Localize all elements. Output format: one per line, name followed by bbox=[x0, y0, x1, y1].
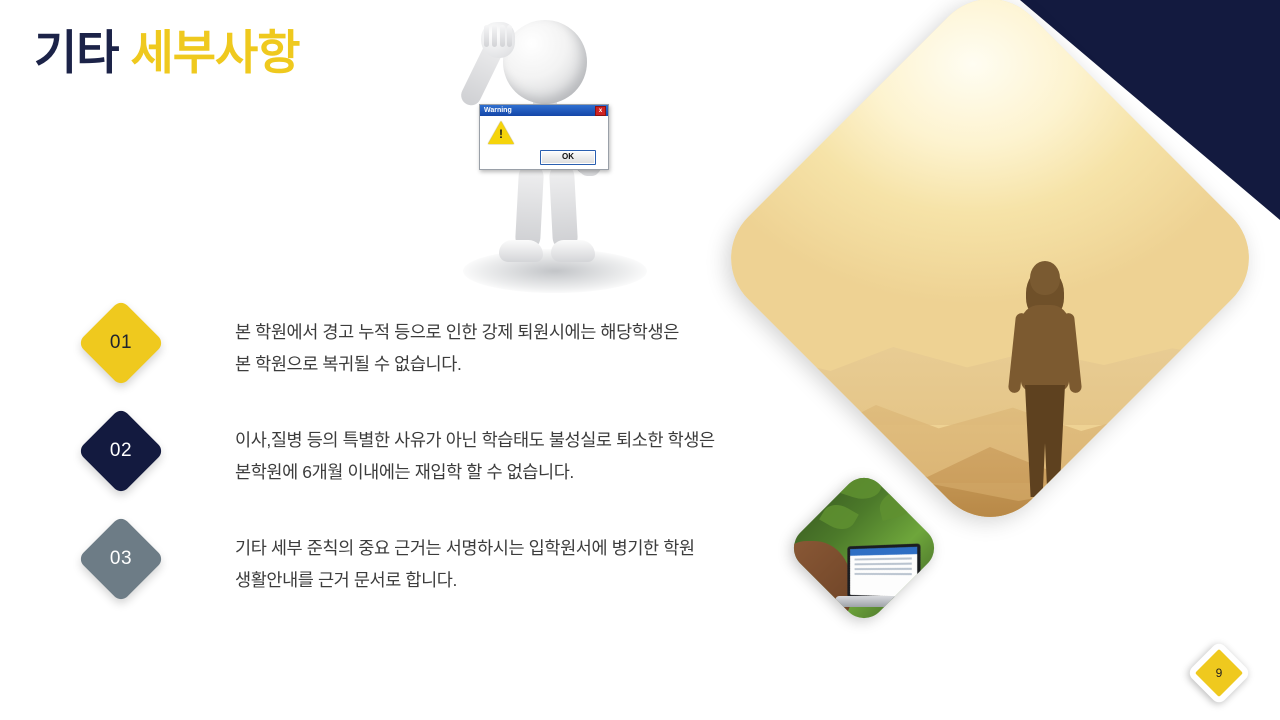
figure-leg-right bbox=[549, 163, 578, 250]
figure-leg-left bbox=[515, 163, 544, 250]
figure-finger bbox=[492, 25, 497, 47]
page-number-badge: 9 bbox=[1186, 640, 1251, 705]
figure-finger bbox=[507, 25, 512, 47]
item-number: 03 bbox=[90, 528, 152, 590]
title-part-dark: 기타 bbox=[34, 26, 118, 79]
title-part-accent: 세부사항 bbox=[131, 26, 300, 79]
mannequin-illustration: Warning x OK bbox=[455, 8, 655, 293]
item-badge-02: 02 bbox=[77, 407, 165, 495]
list-item: 02 이사,질병 등의 특별한 사유가 아닌 학습태도 불성실로 퇴소한 학생은… bbox=[90, 420, 1090, 520]
page-title: 기타 세부사항 bbox=[34, 27, 300, 79]
item-number: 01 bbox=[90, 312, 152, 374]
figure-foot-right bbox=[551, 240, 595, 262]
figure-hand-on-head bbox=[481, 22, 515, 58]
figure-finger bbox=[484, 25, 489, 47]
warning-dialog: Warning x OK bbox=[479, 104, 609, 170]
list-item: 01 본 학원에서 경고 누적 등으로 인한 강제 퇴원시에는 해당학생은 본 … bbox=[90, 312, 1090, 412]
ok-button[interactable]: OK bbox=[540, 150, 596, 165]
figure-foot-left bbox=[499, 240, 543, 262]
warning-dialog-title: Warning bbox=[482, 107, 595, 114]
warning-dialog-titlebar: Warning x bbox=[480, 105, 608, 116]
alert-triangle-icon bbox=[488, 121, 514, 144]
item-text: 본 학원에서 경고 누적 등으로 인한 강제 퇴원시에는 해당학생은 본 학원으… bbox=[235, 316, 855, 381]
item-text: 기타 세부 준칙의 중요 근거는 서명하시는 입학원서에 병기한 학원 생활안내… bbox=[235, 532, 855, 597]
item-text: 이사,질병 등의 특별한 사유가 아닌 학습태도 불성실로 퇴소한 학생은 본학… bbox=[235, 424, 855, 489]
slide-canvas: 기타 세부사항 bbox=[0, 0, 1280, 720]
item-number: 02 bbox=[90, 420, 152, 482]
page-number: 9 bbox=[1202, 656, 1236, 690]
figure-finger bbox=[500, 25, 505, 47]
item-badge-03: 03 bbox=[77, 515, 165, 603]
warning-dialog-body: OK bbox=[480, 116, 608, 169]
item-badge-01: 01 bbox=[77, 299, 165, 387]
silhouette-head bbox=[1030, 261, 1060, 295]
list-item: 03 기타 세부 준칙의 중요 근거는 서명하시는 입학원서에 병기한 학원 생… bbox=[90, 528, 1090, 628]
figure-head bbox=[503, 20, 587, 104]
close-icon[interactable]: x bbox=[595, 106, 606, 116]
